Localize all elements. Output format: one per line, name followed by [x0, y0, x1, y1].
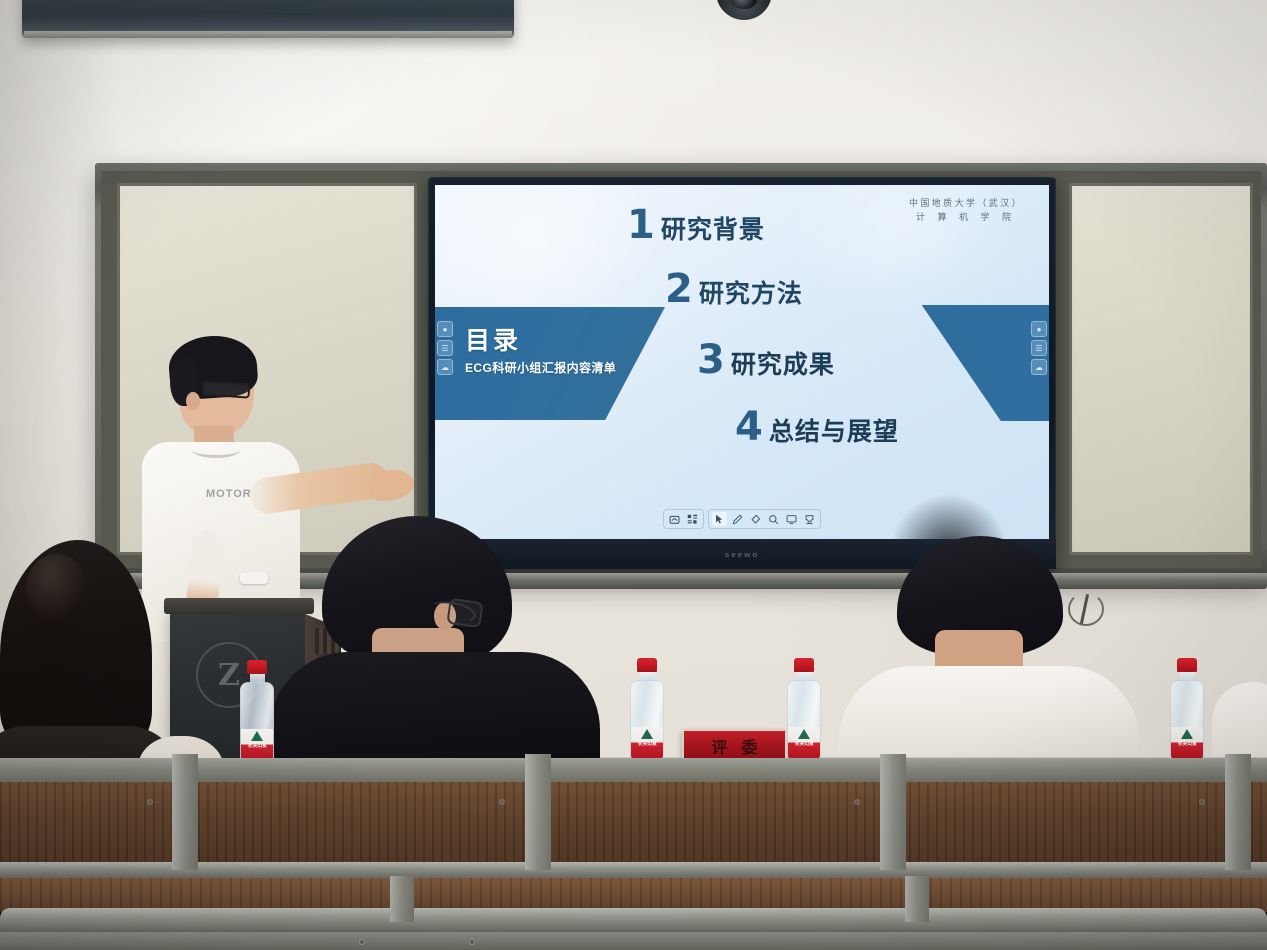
bottle-body: 农夫山泉: [630, 680, 664, 762]
toc-label-4: 总结与展望: [769, 412, 899, 448]
presenter-ear: [186, 392, 200, 410]
bench-post: [1225, 754, 1251, 870]
display-side-launcher-left[interactable]: ● ☰ ☁: [437, 321, 453, 375]
bench-screw: [470, 940, 474, 944]
glasses-lens-icon: [446, 598, 483, 628]
bench-post-front: [905, 876, 929, 922]
bottle-brand: 农夫山泉: [794, 740, 813, 746]
audience-member-right: [835, 618, 1155, 770]
toc-item-3: 3 研究成果: [697, 340, 835, 381]
bottle-cap: [794, 658, 814, 672]
water-bottle: 农夫山泉: [785, 658, 823, 762]
presenter-collar: [192, 442, 240, 458]
bottle-neck: [1180, 672, 1195, 680]
eraser-icon[interactable]: [748, 512, 763, 526]
toc-item-1: 1 研究背景: [627, 205, 765, 246]
bench-post: [880, 754, 906, 870]
interactive-display[interactable]: 中国地质大学（武汉） 计 算 机 学 院 目录 ECG科研小组汇报内容清单 1 …: [428, 177, 1056, 569]
water-bottle: 农夫山泉: [1168, 658, 1206, 762]
mountain-icon: [641, 729, 653, 739]
lecture-hall-benches: [0, 758, 1267, 950]
toc-number-2: 2: [665, 269, 693, 309]
mountain-icon: [798, 729, 810, 739]
pen-icon[interactable]: [730, 512, 745, 526]
bench-row-2-rail: [0, 908, 1267, 934]
audience-hair-highlight: [26, 554, 88, 624]
bench-screw: [855, 800, 859, 804]
bottle-label: 农夫山泉: [788, 727, 820, 761]
bottle-brand: 农夫山泉: [637, 740, 656, 746]
toc-label-2: 研究方法: [699, 274, 803, 310]
display-toolbar[interactable]: [663, 509, 821, 529]
bench-screw: [360, 940, 364, 944]
toolbar-group-system[interactable]: [663, 509, 704, 529]
bench-screw: [148, 800, 152, 804]
toc-number-4: 4: [735, 407, 763, 447]
stamp-icon[interactable]: [802, 512, 817, 526]
toc-label-3: 研究成果: [731, 345, 835, 381]
magnifier-icon[interactable]: [766, 512, 781, 526]
audience-member-left: [0, 540, 190, 770]
bottle-brand: 农夫山泉: [247, 742, 266, 748]
mountain-icon: [1181, 729, 1193, 739]
water-bottle: 农夫山泉: [238, 660, 276, 764]
bottle-cap: [637, 658, 657, 672]
bench-screw: [500, 800, 504, 804]
screen-icon[interactable]: [784, 512, 799, 526]
nameplate-text: 评委: [697, 734, 771, 758]
cloud-icon[interactable]: ☁: [1031, 359, 1047, 375]
lecture-hall-scene: 中国地质大学（武汉） 计 算 机 学 院 目录 ECG科研小组汇报内容清单 1 …: [0, 0, 1267, 950]
mountain-icon: [251, 731, 263, 741]
cursor-pointer-icon[interactable]: [712, 512, 727, 526]
display-brand-label: seewo: [725, 550, 759, 558]
list-icon[interactable]: ☰: [1031, 340, 1047, 356]
bench-post: [172, 754, 198, 870]
toc-number-1: 1: [627, 205, 655, 245]
display-side-launcher-right[interactable]: ● ☰ ☁: [1031, 321, 1047, 375]
apps-grid-icon[interactable]: [685, 512, 700, 526]
toc-item-4: 4 总结与展望: [735, 407, 899, 448]
bottle-body: 农夫山泉: [240, 682, 274, 764]
bench-post: [525, 754, 551, 870]
bottle-neck: [797, 672, 812, 680]
cloud-icon[interactable]: ☁: [437, 359, 453, 375]
bottle-body: 农夫山泉: [787, 680, 821, 762]
presentation-slide[interactable]: 中国地质大学（武汉） 计 算 机 学 院 目录 ECG科研小组汇报内容清单 1 …: [435, 185, 1049, 539]
person-icon[interactable]: ●: [437, 321, 453, 337]
toolbar-group-tools[interactable]: [708, 509, 821, 529]
list-icon[interactable]: ☰: [437, 340, 453, 356]
bottle-cap: [1177, 658, 1197, 672]
bottle-neck: [640, 672, 655, 680]
bottle-label: 农夫山泉: [631, 727, 663, 761]
bottle-body: 农夫山泉: [1170, 680, 1204, 762]
audience-member-center: [262, 516, 602, 770]
bottle-cap: [247, 660, 267, 674]
bench-screw: [1200, 800, 1204, 804]
home-icon[interactable]: [667, 512, 682, 526]
bottle-brand: 农夫山泉: [1177, 740, 1196, 746]
bench-row-2-base: [0, 932, 1267, 950]
bench-post-front: [390, 876, 414, 922]
toc-item-2: 2 研究方法: [665, 269, 803, 310]
bench-row-2-wood-seat: [0, 878, 1267, 912]
camera-lens-icon: [731, 0, 757, 9]
toc-label-1: 研究背景: [661, 210, 765, 246]
slide-toc-list: 1 研究背景 2 研究方法 3 研究成果 4 总结与展望: [435, 185, 1049, 539]
toc-number-3: 3: [697, 340, 725, 380]
bottle-label: 农夫山泉: [1171, 727, 1203, 761]
person-icon[interactable]: ●: [1031, 321, 1047, 337]
whiteboard-panel-right: [1069, 183, 1253, 555]
water-bottle: 农夫山泉: [628, 658, 666, 762]
ceiling-panel: [22, 0, 514, 38]
bottle-neck: [250, 674, 265, 682]
